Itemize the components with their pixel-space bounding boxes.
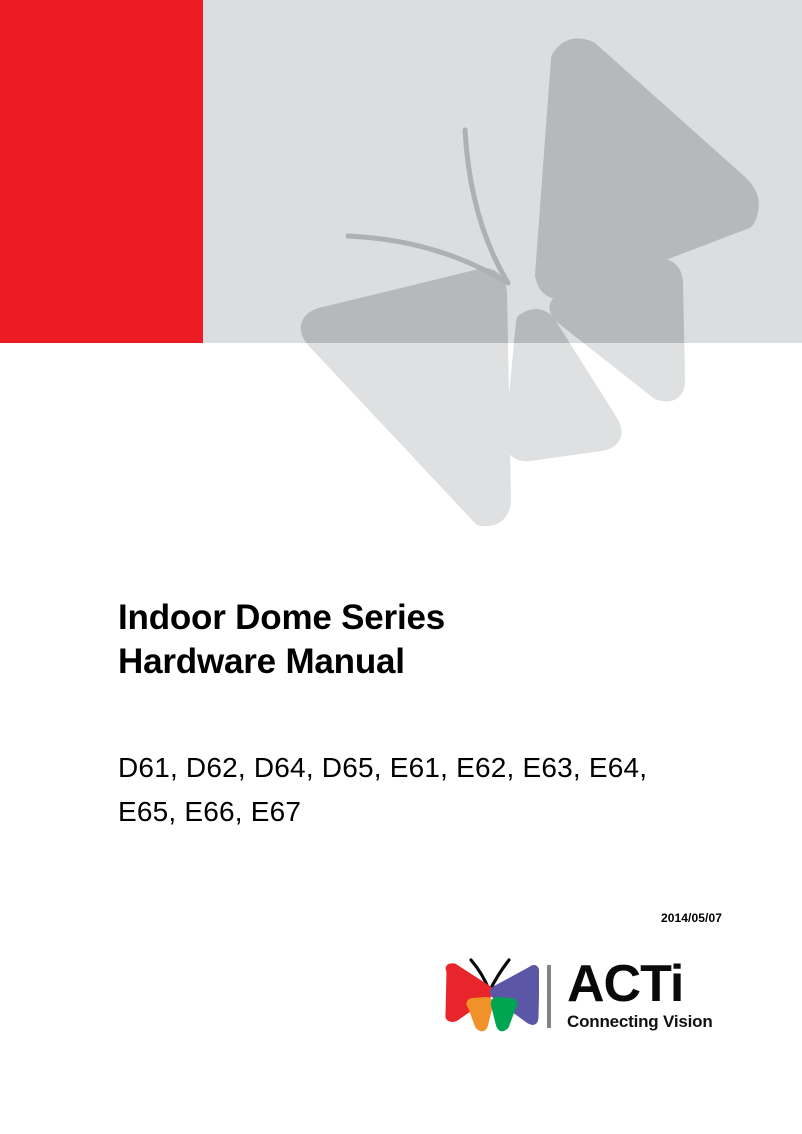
model-list: D61, D62, D64, D65, E61, E62, E63, E64, … [118,746,703,834]
document-date: 2014/05/07 [661,911,722,925]
brand-tagline: Connecting Vision [567,1011,733,1033]
brand-name: ACTi [567,959,733,1009]
title-line-1: Indoor Dome Series [118,596,738,640]
logo-divider [547,965,551,1028]
page-title: Indoor Dome Series Hardware Manual [118,596,738,684]
acti-butterfly-icon [443,956,539,1036]
document-cover-page: Indoor Dome Series Hardware Manual D61, … [0,0,802,1134]
logo-wordmark: ACTi Connecting Vision [567,959,733,1033]
header-red-block [0,0,203,343]
title-line-2: Hardware Manual [118,640,738,684]
acti-logo: ACTi Connecting Vision [443,953,733,1039]
